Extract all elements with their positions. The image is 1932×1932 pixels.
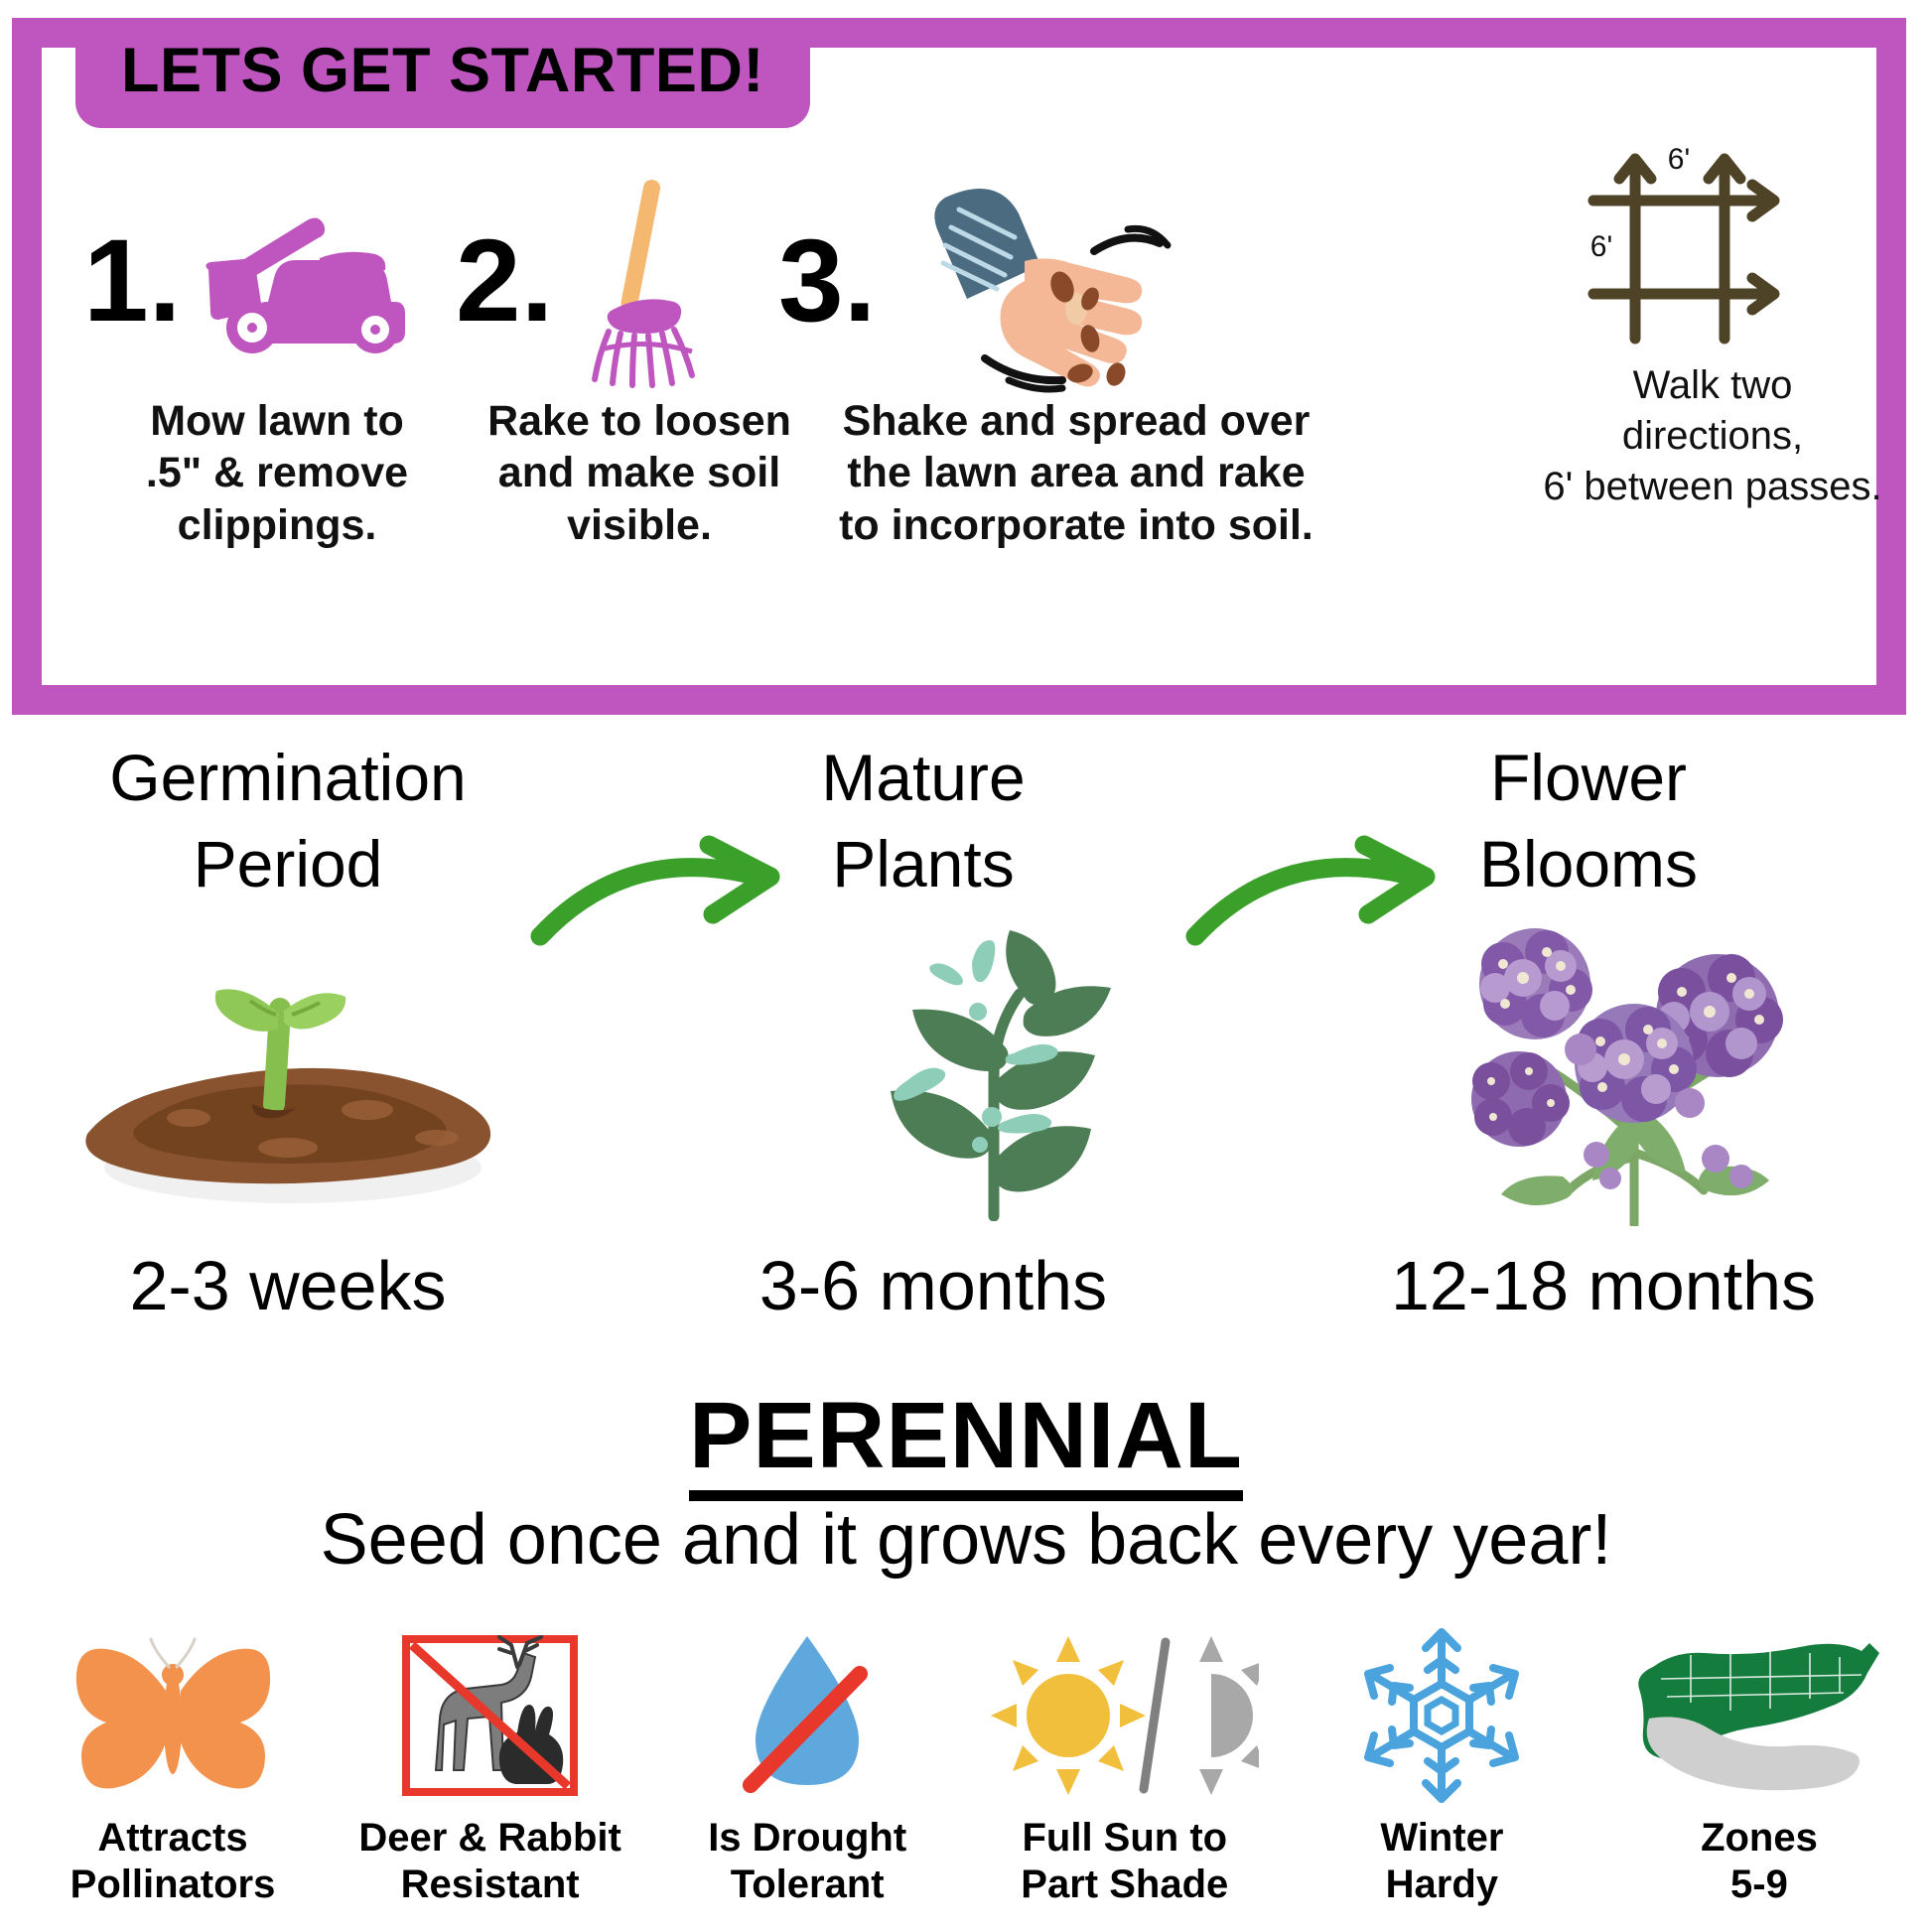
feature-label-5: Zones 5-9 xyxy=(1701,1815,1818,1908)
grid-diagram-caption: Walk two directions, 6' between passes. xyxy=(1499,360,1926,513)
part-shade-icon xyxy=(1199,1636,1259,1795)
step-3: 3. xyxy=(778,167,1374,551)
step-2-number: 2. xyxy=(456,222,553,340)
no-water-drop-icon xyxy=(733,1628,882,1802)
step-3-number: 3. xyxy=(778,222,876,340)
feature-winter-hardy: Winter Hardy xyxy=(1293,1623,1590,1921)
seedling-in-soil-icon xyxy=(40,923,536,1211)
feature-label-4: Winter Hardy xyxy=(1380,1815,1503,1908)
timeline-duration-1: 2-3 weeks xyxy=(30,1246,546,1325)
no-deer-rabbit-icon-wrap xyxy=(398,1623,582,1807)
feature-sun-part-shade: Full Sun to Part Shade xyxy=(976,1623,1274,1921)
no-deer-rabbit-icon xyxy=(398,1631,582,1800)
feature-label-2: Is Drought Tolerant xyxy=(708,1815,906,1908)
feature-attracts-pollinators: Attracts Pollinators xyxy=(24,1623,322,1921)
perennial-title-text: PERENNIAL xyxy=(689,1383,1243,1501)
snowflake-icon xyxy=(1352,1626,1531,1805)
steps-row: 1. xyxy=(83,167,1473,594)
walk-pattern-grid-diagram: 6' 6' xyxy=(1576,135,1824,348)
feature-icon-row: Attracts Pollinators D xyxy=(0,1623,1932,1921)
hand-spreading-seeds-icon xyxy=(886,170,1213,393)
full-sun-icon xyxy=(991,1636,1146,1795)
rake-icon xyxy=(561,175,730,388)
feature-label-1: Deer & Rabbit Resistant xyxy=(358,1815,621,1908)
no-water-drop-icon-wrap xyxy=(733,1623,882,1807)
usa-map-icon-wrap xyxy=(1635,1623,1883,1807)
slash-divider xyxy=(1144,1642,1166,1789)
infographic-page: 1. xyxy=(0,0,1932,1932)
snowflake-icon-wrap xyxy=(1352,1623,1531,1807)
step-1-head: 1. xyxy=(83,167,471,395)
purple-flower-cluster-icon xyxy=(1440,908,1827,1226)
feature-deer-rabbit-resistant: Deer & Rabbit Resistant xyxy=(342,1623,639,1921)
timeline-duration-3: 12-18 months xyxy=(1320,1246,1886,1325)
leafy-plant-icon xyxy=(849,918,1176,1221)
feature-drought-tolerant: Is Drought Tolerant xyxy=(658,1623,956,1921)
feature-label-0: Attracts Pollinators xyxy=(70,1815,276,1908)
sun-part-shade-icon-wrap xyxy=(991,1623,1259,1807)
lawn-mower-icon xyxy=(187,207,405,355)
step-1: 1. xyxy=(83,167,471,551)
banner-label: LETS GET STARTED! xyxy=(121,40,764,102)
step-3-head: 3. xyxy=(778,167,1374,395)
butterfly-icon-wrap xyxy=(67,1623,280,1807)
feature-zones: Zones 5-9 xyxy=(1610,1623,1908,1921)
step-2-head: 2. xyxy=(456,167,823,395)
step-2-caption: Rake to loosen and make soil visible. xyxy=(456,395,823,551)
growth-timeline: Germination Period Mature Plants Flower … xyxy=(0,735,1932,1092)
timeline-arrow-2 xyxy=(1181,829,1479,958)
usa-map-icon xyxy=(1635,1633,1883,1797)
grid-label-top: 6' xyxy=(1668,143,1690,176)
timeline-duration-2: 3-6 months xyxy=(685,1246,1181,1325)
step-2: 2. Rak xyxy=(456,167,823,551)
step-1-caption: Mow lawn to .5" & remove clippings. xyxy=(83,395,471,551)
step-1-number: 1. xyxy=(83,222,181,340)
sun-part-shade-icon xyxy=(991,1628,1259,1802)
perennial-subtitle: Seed once and it grows back every year! xyxy=(0,1499,1932,1581)
timeline-title-1: Germination Period xyxy=(30,735,546,907)
grid-label-left: 6' xyxy=(1590,230,1612,263)
lets-get-started-banner: LETS GET STARTED! xyxy=(75,18,810,128)
timeline-arrow-1 xyxy=(526,829,824,958)
feature-label-3: Full Sun to Part Shade xyxy=(1021,1815,1228,1908)
butterfly-icon xyxy=(67,1631,280,1800)
step-3-caption: Shake and spread over the lawn area and … xyxy=(778,395,1374,551)
perennial-title: PERENNIAL xyxy=(0,1382,1932,1490)
